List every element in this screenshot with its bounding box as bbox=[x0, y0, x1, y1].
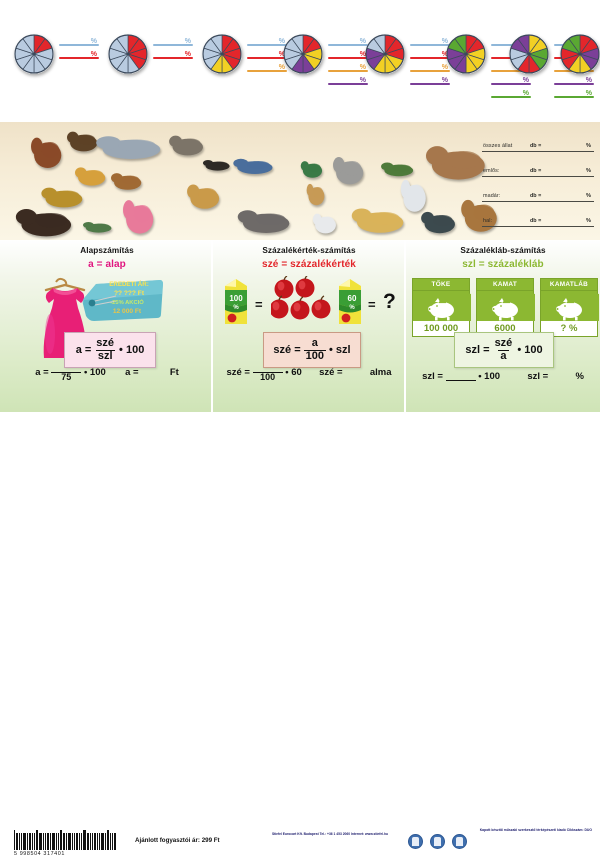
formula-lhs: a = bbox=[76, 344, 92, 356]
answer-line-3[interactable]: % bbox=[247, 62, 287, 75]
piggy-card-3: KAMATLÁB? % bbox=[540, 278, 598, 337]
bottom-expression-szazalekláb: szl = • 100 szl = % bbox=[406, 371, 600, 382]
pie-graphic bbox=[108, 34, 148, 74]
percent-symbol: % bbox=[91, 51, 97, 59]
barcode-bar bbox=[110, 833, 111, 850]
credits-text: Kapott készítő műszaki szerkesztő térkép… bbox=[480, 828, 592, 833]
formula-numerator: szé bbox=[493, 338, 515, 350]
animal-row-db: db = bbox=[530, 168, 541, 174]
formula-numerator: szé bbox=[94, 338, 116, 350]
panel-subtitle: a = alap bbox=[4, 259, 210, 270]
formula-denominator: 100 bbox=[304, 350, 326, 363]
bottom-numerator-blank bbox=[51, 363, 81, 372]
pie-graphic bbox=[365, 34, 405, 74]
answer-underline bbox=[482, 226, 594, 227]
answer-underline bbox=[482, 151, 594, 152]
animal-leopard bbox=[350, 204, 408, 236]
pie-chart-4: %%%% bbox=[283, 34, 323, 74]
answer-line-2[interactable]: % bbox=[153, 49, 193, 62]
barcode-bar bbox=[21, 833, 22, 850]
bottom-mult: • 100 bbox=[84, 367, 106, 378]
barcode-bar bbox=[66, 833, 67, 850]
barcode-bar bbox=[94, 833, 96, 850]
animal-hummingbird bbox=[300, 158, 324, 180]
animal-pheasant bbox=[110, 170, 144, 192]
animal-table-row[interactable]: madár:db =% bbox=[482, 181, 594, 206]
barcode-bar bbox=[19, 833, 20, 850]
answer-line-5[interactable]: % bbox=[554, 88, 594, 101]
animal-row-percent: % bbox=[586, 193, 591, 199]
barcode-bar bbox=[83, 830, 86, 850]
animal-wolf bbox=[332, 152, 366, 188]
panel-title: Alapszámítás bbox=[4, 246, 210, 255]
answer-underline bbox=[482, 176, 594, 177]
formula-tail: • 100 bbox=[119, 344, 144, 356]
panel-title: Százalékérték-számítás bbox=[213, 246, 405, 255]
formula-panels: Alapszámítás a = alap bbox=[0, 240, 600, 412]
bottom-expression-alap: a = 75 • 100 a = Ft bbox=[4, 363, 210, 382]
logo-icon-1 bbox=[408, 834, 423, 849]
answer-line-1[interactable]: % bbox=[59, 36, 99, 49]
answer-line-1[interactable]: % bbox=[328, 36, 368, 49]
animal-deer bbox=[186, 180, 222, 212]
pie-chart-7: %%%%% bbox=[509, 34, 549, 74]
pie-chart-1: %% bbox=[14, 34, 54, 74]
pie-graphic bbox=[560, 34, 600, 74]
animal-row-label: összes állat bbox=[483, 143, 512, 149]
barcode-bar bbox=[52, 833, 55, 850]
animal-row-db: db = bbox=[530, 218, 541, 224]
answer-line-1[interactable]: % bbox=[153, 36, 193, 49]
bottom-denominator: 100 bbox=[253, 372, 283, 382]
answer-line-3[interactable]: % bbox=[328, 62, 368, 75]
panel-szazalekláb: Százalékláb-számítás szl = százalékláb T… bbox=[404, 240, 600, 412]
barcode-bar bbox=[36, 830, 38, 850]
bottom-denominator: 75 bbox=[51, 372, 81, 382]
tag-line-price: ?? ??? Ft bbox=[98, 290, 160, 297]
piggy-card-title: KAMATLÁB bbox=[540, 278, 598, 291]
answer-line-2[interactable]: % bbox=[328, 49, 368, 62]
animal-row-db: db = bbox=[530, 193, 541, 199]
animal-seal bbox=[168, 132, 206, 158]
formula-denominator: a bbox=[498, 350, 508, 363]
pie-graphic bbox=[14, 34, 54, 74]
barcode-bar bbox=[99, 833, 100, 850]
bottom-lhs: a = bbox=[35, 367, 48, 378]
bottom-lhs: szl = bbox=[422, 371, 443, 382]
percent-symbol: % bbox=[91, 38, 97, 46]
barcode-bar bbox=[39, 833, 42, 850]
barcode-bar bbox=[68, 833, 71, 850]
panel-alapszamitas: Alapszámítás a = alap bbox=[4, 240, 210, 412]
piggy-bank-icon bbox=[540, 291, 598, 321]
answer-line-2[interactable]: % bbox=[59, 49, 99, 62]
poster-root: %%%%%%%%%%%%%%%%%%%%%%%%%%%%%% összes ál… bbox=[0, 0, 600, 450]
apple-group bbox=[271, 276, 333, 333]
barcode-bar bbox=[90, 833, 91, 850]
barcode-bar bbox=[81, 833, 82, 850]
barcode-bar bbox=[34, 833, 35, 850]
svg-text:%: % bbox=[349, 305, 355, 311]
pie-chart-3: %%% bbox=[202, 34, 242, 74]
formula-tail: • szl bbox=[329, 344, 351, 356]
pie-chart-5: %%%% bbox=[365, 34, 405, 74]
animal-row-db: db = bbox=[530, 143, 541, 149]
barcode-bar bbox=[32, 833, 33, 850]
formula-lhs: szl = bbox=[465, 344, 489, 356]
answer-line-1[interactable]: % bbox=[247, 36, 287, 49]
barcode-bar bbox=[23, 833, 26, 850]
bottom-lhs: szé = bbox=[226, 367, 250, 378]
animal-shark bbox=[94, 132, 166, 162]
barcode-bar bbox=[105, 833, 106, 850]
barcode-bar bbox=[114, 833, 116, 850]
barcode-bar bbox=[97, 833, 98, 850]
formula-box-szazalekláb: szl = szé a • 100 bbox=[454, 332, 554, 368]
logo-icon-3 bbox=[452, 834, 467, 849]
barcode-bar bbox=[27, 833, 28, 850]
recommended-price: Ajánlott fogyasztói ár: 299 Ft bbox=[135, 837, 220, 844]
bottom-unit: alma bbox=[370, 367, 392, 378]
publisher-logos bbox=[408, 834, 467, 849]
animal-table-row[interactable]: hal:db =% bbox=[482, 206, 594, 231]
bottom-denominator bbox=[446, 380, 476, 381]
price-tag: EREDETI ÁR: ?? ??? Ft -25% AKCIÓ 12 000 … bbox=[82, 278, 164, 329]
animal-elephant bbox=[424, 140, 490, 184]
publisher-info: Stiefel Eurocart Kft. Budapest Tel.: +36… bbox=[265, 832, 395, 837]
answer-line-2[interactable]: % bbox=[410, 49, 450, 62]
barcode-bar bbox=[112, 833, 113, 850]
animal-hippo bbox=[236, 206, 294, 236]
barcode-bar bbox=[50, 833, 51, 850]
barcode-bar bbox=[47, 833, 49, 850]
percent-symbol: % bbox=[360, 77, 366, 85]
animal-row-label: hal: bbox=[483, 218, 492, 224]
percent-symbol: % bbox=[185, 38, 191, 46]
answer-line-4[interactable]: % bbox=[554, 75, 594, 88]
answer-lines: %% bbox=[153, 36, 193, 62]
formula-numerator: a bbox=[310, 338, 320, 350]
svg-text:60: 60 bbox=[348, 294, 357, 303]
piggy-bank-icon bbox=[412, 291, 470, 321]
animal-count-table: összes állatdb =%emlős:db =%madár:db =%h… bbox=[482, 131, 594, 233]
barcode-bar bbox=[43, 833, 44, 850]
pie-chart-8: %%%%% bbox=[560, 34, 600, 74]
piggy-card-1: TŐKE100 000 bbox=[412, 278, 470, 337]
answer-line-4[interactable]: % bbox=[328, 75, 368, 88]
question-mark: ? bbox=[383, 290, 396, 314]
animal-row-percent: % bbox=[586, 143, 591, 149]
barcode-bar bbox=[79, 833, 80, 850]
answer-lines: %% bbox=[59, 36, 99, 62]
tag-line-new-price: 12 000 Ft bbox=[96, 308, 158, 315]
pie-graphic bbox=[202, 34, 242, 74]
pie-graphic bbox=[446, 34, 486, 74]
answer-line-2[interactable]: % bbox=[247, 49, 287, 62]
answer-line-5[interactable]: % bbox=[491, 88, 531, 101]
juice-carton-60: 60 % bbox=[335, 276, 365, 333]
bottom-expression-szazalekertek: szé = 100 • 60 szé = alma bbox=[213, 363, 405, 382]
panel-subtitle: szl = százalékláb bbox=[406, 259, 600, 270]
percent-symbol: % bbox=[523, 90, 529, 98]
animal-row-label: emlős: bbox=[483, 168, 499, 174]
tag-line-original: EREDETI ÁR: bbox=[98, 281, 160, 288]
answer-line-1[interactable]: % bbox=[410, 36, 450, 49]
pie-chart-2: %% bbox=[108, 34, 148, 74]
formula-tail: • 100 bbox=[517, 344, 542, 356]
piggy-card-title: TŐKE bbox=[412, 278, 470, 291]
tag-line-discount: -25% AKCIÓ bbox=[96, 300, 158, 306]
footer: 5 998504 317401 Ajánlott fogyasztói ár: … bbox=[0, 412, 600, 450]
panel-title: Százalékláb-számítás bbox=[406, 246, 600, 255]
barcode-bar bbox=[29, 833, 31, 850]
pie-graphic bbox=[283, 34, 323, 74]
animal-bear bbox=[14, 204, 76, 240]
juice-carton-100: 100 % bbox=[221, 276, 251, 333]
percent-symbol: % bbox=[523, 77, 529, 85]
pie-graphic bbox=[509, 34, 549, 74]
barcode-number: 5 998504 317401 bbox=[14, 851, 117, 857]
piggy-card-title: KAMAT bbox=[476, 278, 534, 291]
animal-row-percent: % bbox=[586, 168, 591, 174]
panel-szazalekertek: Százalékérték-számítás szé = százalékért… bbox=[211, 240, 405, 412]
pie-chart-6: %%%%% bbox=[446, 34, 486, 74]
formula-lhs: szé = bbox=[273, 344, 300, 356]
equals-sign-2: = bbox=[368, 297, 376, 312]
animal-flamingo bbox=[122, 194, 156, 238]
barcode-bar bbox=[87, 833, 89, 850]
barcode-bar bbox=[45, 833, 46, 850]
animal-rabbit bbox=[306, 180, 326, 208]
panel-subtitle: szé = százalékérték bbox=[213, 259, 405, 270]
pie-chart-band: %%%%%%%%%%%%%%%%%%%%%%%%%%%%%% bbox=[0, 0, 600, 122]
barcode-bar bbox=[58, 833, 59, 850]
bottom-result-lhs: szé = bbox=[319, 367, 343, 378]
barcode-bar bbox=[16, 833, 18, 850]
barcode-bar bbox=[92, 833, 93, 850]
logo-icon-2 bbox=[430, 834, 445, 849]
barcode-bar bbox=[60, 830, 62, 850]
percent-symbol: % bbox=[586, 90, 592, 98]
percent-symbol: % bbox=[442, 77, 448, 85]
bottom-unit: % bbox=[575, 371, 583, 382]
barcode-bar bbox=[56, 833, 57, 850]
answer-lines: %%%% bbox=[328, 36, 368, 88]
answer-line-4[interactable]: % bbox=[491, 75, 531, 88]
answer-line-3[interactable]: % bbox=[410, 62, 450, 75]
bottom-result-lhs: a = bbox=[125, 367, 138, 378]
barcode-bar bbox=[72, 833, 73, 850]
barcode: 5 998504 317401 bbox=[14, 830, 117, 857]
answer-lines: %%% bbox=[247, 36, 287, 75]
animal-orangutan bbox=[30, 132, 64, 172]
piggy-bank-icon bbox=[476, 291, 534, 321]
barcode-bar bbox=[74, 833, 75, 850]
barcode-bar bbox=[107, 830, 109, 850]
bottom-unit: Ft bbox=[170, 367, 179, 378]
animal-swan bbox=[312, 210, 338, 236]
answer-underline bbox=[482, 201, 594, 202]
svg-text:100: 100 bbox=[229, 294, 243, 303]
animal-row-percent: % bbox=[586, 218, 591, 224]
answer-line-4[interactable]: % bbox=[410, 75, 450, 88]
answer-lines: %%%% bbox=[410, 36, 450, 88]
bottom-numerator-blank bbox=[253, 363, 283, 372]
barcode-bar bbox=[76, 833, 78, 850]
animal-table-row[interactable]: összes állatdb =% bbox=[482, 131, 594, 156]
animal-row-label: madár: bbox=[483, 193, 500, 199]
animal-tuna bbox=[232, 156, 276, 176]
percent-symbol: % bbox=[185, 51, 191, 59]
percent-symbol: % bbox=[586, 77, 592, 85]
animal-trout bbox=[82, 220, 114, 234]
animal-mole bbox=[202, 158, 232, 172]
barcode-bar bbox=[63, 833, 65, 850]
animal-catfish bbox=[420, 208, 458, 236]
animal-table-row[interactable]: emlős:db =% bbox=[482, 156, 594, 181]
formula-denominator: szl bbox=[96, 350, 115, 363]
piggy-card-2: KAMAT6000 bbox=[476, 278, 534, 337]
bottom-mult: • 100 bbox=[478, 371, 500, 382]
equals-sign-1: = bbox=[255, 297, 263, 312]
bottom-result-lhs: szl = bbox=[527, 371, 548, 382]
barcode-bar bbox=[14, 830, 15, 850]
svg-text:%: % bbox=[233, 305, 239, 311]
barcode-bar bbox=[101, 833, 104, 850]
bottom-mult: • 60 bbox=[285, 367, 302, 378]
bottom-numerator-blank bbox=[446, 371, 476, 380]
